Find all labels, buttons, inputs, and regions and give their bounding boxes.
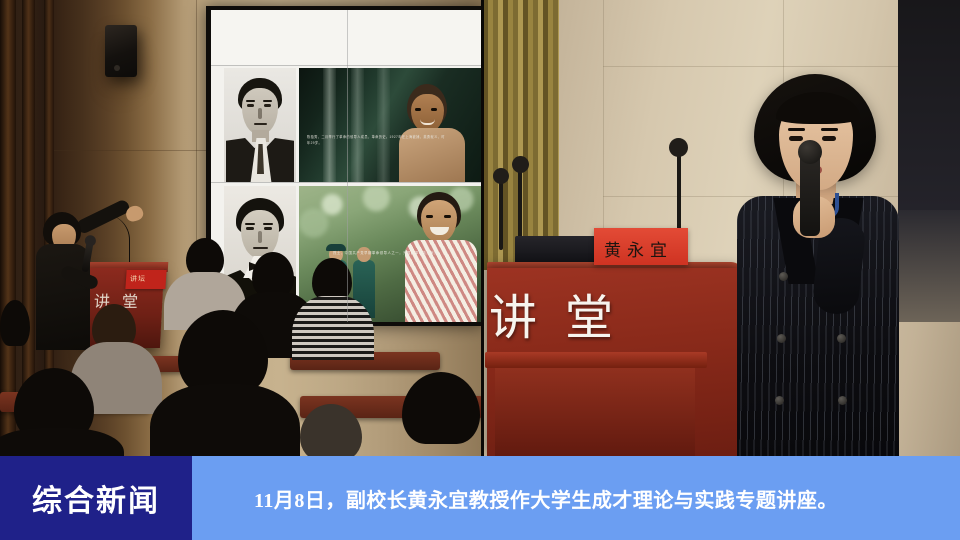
audience-head bbox=[252, 252, 294, 296]
caption-text-container: 11月8日，副校长黄永宜教授作大学生成才理论与实践专题讲座。 bbox=[254, 456, 952, 540]
audience-shoulders bbox=[150, 384, 300, 456]
photo-row: 陈独秀，二月举行了革命的领导人成员，革命历史。1927年在上海被捕，英勇就义，时… bbox=[0, 0, 960, 456]
handheld-microphone-icon bbox=[800, 152, 820, 236]
audience-head bbox=[0, 300, 30, 346]
category-badge: 综合新闻 bbox=[0, 456, 192, 540]
audience-shoulders bbox=[292, 296, 374, 360]
dark-wall-panel bbox=[898, 0, 960, 210]
microphone-head-icon bbox=[493, 168, 509, 184]
podium-base bbox=[495, 368, 695, 456]
caption-text: 11月8日，副校长黄永宜教授作大学生成才理论与实践专题讲座。 bbox=[254, 484, 838, 513]
audience-head bbox=[312, 258, 352, 300]
lectern-nameplate: 讲坛 bbox=[125, 270, 166, 289]
wall-seam-v bbox=[196, 0, 197, 270]
wall-seam-h bbox=[54, 150, 224, 151]
lecture-hall-audience-photo: 陈独秀，二月举行了革命的领导人成员，革命历史。1927年在上海被捕，英勇就义，时… bbox=[0, 0, 483, 456]
slide-photo-b: 陈独秀，二月举行了革命的领导人成员，革命历史。1927年在上海被捕，英勇就义，时… bbox=[299, 68, 483, 182]
category-badge-label: 综合新闻 bbox=[32, 476, 160, 520]
wood-panel-left bbox=[0, 0, 16, 456]
wall-speaker-icon bbox=[105, 25, 137, 77]
caption-bar: 综合新闻 11月8日，副校长黄永宜教授作大学生成才理论与实践专题讲座。 bbox=[0, 456, 960, 540]
microphone-head-icon bbox=[512, 156, 529, 173]
photo-divider bbox=[481, 0, 484, 456]
slide-portrait-a bbox=[224, 68, 296, 182]
presenter-body bbox=[36, 244, 90, 350]
slide-caption-b: 陈独秀，二月举行了革命的领导人成员，革命历史。1927年在上海被捕，英勇就义，时… bbox=[307, 134, 447, 146]
speaker-eye-right bbox=[822, 136, 836, 141]
gooseneck-microphone-icon bbox=[499, 176, 503, 250]
suit-button bbox=[775, 396, 784, 405]
microphone-head-icon bbox=[669, 138, 688, 157]
podium-shelf bbox=[485, 352, 707, 368]
suit-button bbox=[838, 396, 847, 405]
speaker-eyebrow-right bbox=[821, 128, 838, 131]
suit-button bbox=[777, 334, 786, 343]
podium-calligraphy: 讲 堂 bbox=[489, 278, 621, 348]
news-banner-image: 陈独秀，二月举行了革命的领导人成员，革命历史。1927年在上海被捕，英勇就义，时… bbox=[0, 0, 960, 540]
lectern-nameplate-text: 讲坛 bbox=[130, 274, 147, 284]
slide-caption-d: 烈士，中国共产党早期革命领导人之一，为国民革命英勇献身。 bbox=[333, 250, 463, 257]
dark-wall-panel-lower bbox=[898, 210, 960, 322]
speaker-eyebrow-left bbox=[788, 128, 805, 131]
wall-joint bbox=[603, 0, 604, 250]
speaker-nameplate: 黄永宜 bbox=[594, 228, 688, 265]
speaker-nameplate-text: 黄永宜 bbox=[604, 236, 673, 261]
suit-button bbox=[837, 334, 846, 343]
speaker-eye-left bbox=[789, 136, 803, 141]
audience-head bbox=[186, 238, 224, 276]
suit-button bbox=[779, 272, 788, 281]
wall-joint bbox=[603, 66, 903, 67]
